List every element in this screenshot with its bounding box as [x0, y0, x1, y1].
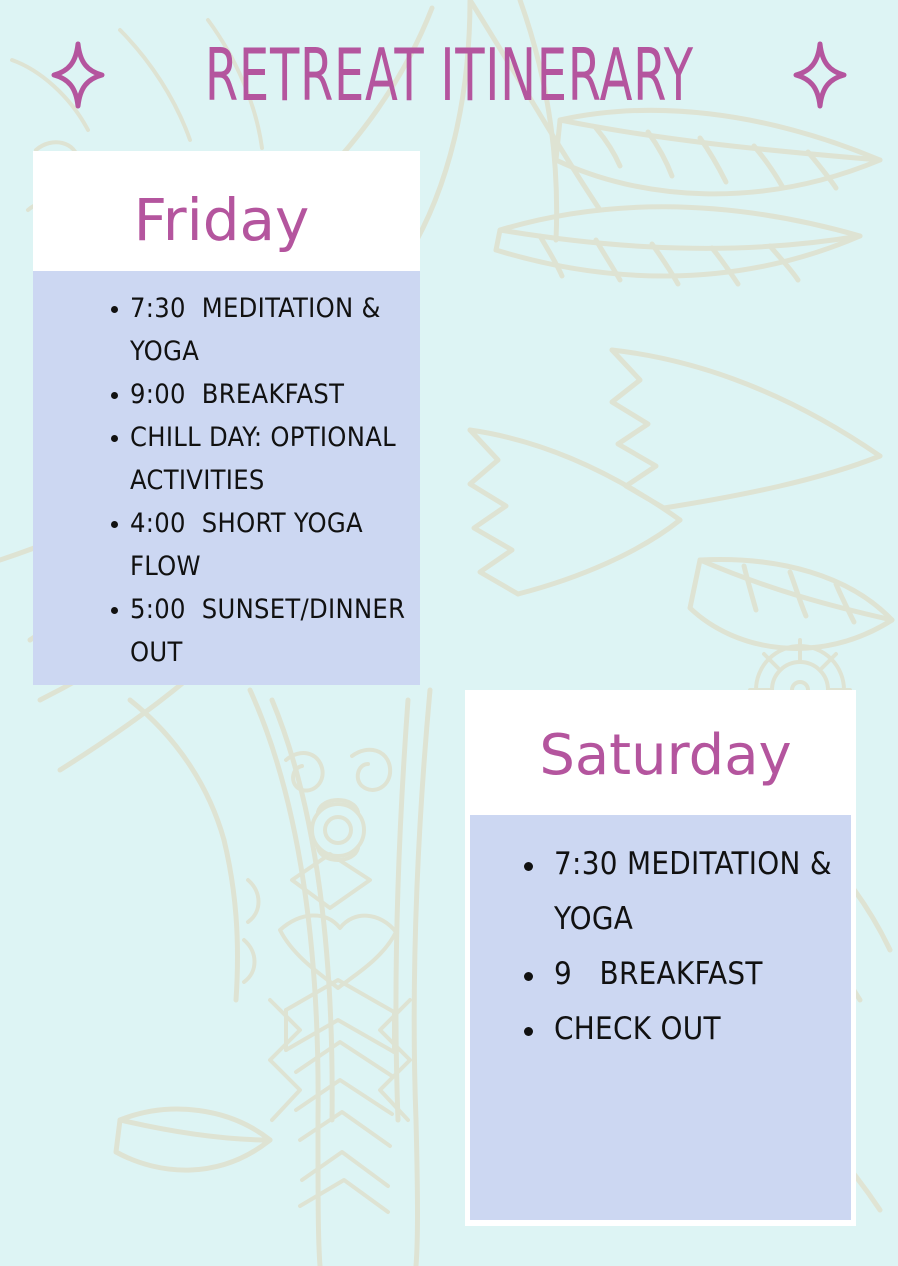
- schedule-list-friday: 7:30 MEDITATION & YOGA 9:00 BREAKFAST CH…: [33, 287, 412, 674]
- list-item: 9:00 BREAKFAST: [111, 373, 412, 416]
- list-item: 9 BREAKFAST: [524, 947, 843, 1002]
- list-item: 5:00 SUNSET/DINNER OUT: [111, 588, 412, 674]
- list-item: 4:00 SHORT YOGA FLOW: [111, 502, 412, 588]
- list-item: CHILL DAY: OPTIONAL ACTIVITIES: [111, 416, 412, 502]
- schedule-panel-friday: 7:30 MEDITATION & YOGA 9:00 BREAKFAST CH…: [33, 271, 420, 685]
- list-item: CHECK OUT: [524, 1002, 843, 1057]
- four-point-star-icon: [793, 41, 847, 109]
- day-heading-saturday: Saturday: [465, 690, 856, 784]
- four-point-star-icon: [51, 41, 105, 109]
- list-item: 7:30 MEDITATION & YOGA: [524, 837, 843, 947]
- list-item: 7:30 MEDITATION & YOGA: [111, 287, 412, 373]
- page-title-text: RETREAT ITINERARY: [205, 39, 694, 111]
- day-card-saturday: Saturday 7:30 MEDITATION & YOGA 9 BREAKF…: [465, 690, 856, 1226]
- schedule-list-saturday: 7:30 MEDITATION & YOGA 9 BREAKFAST CHECK…: [470, 837, 843, 1057]
- day-card-friday: Friday 7:30 MEDITATION & YOGA 9:00 BREAK…: [33, 151, 420, 685]
- page-title: RETREAT ITINERARY: [0, 30, 898, 120]
- day-heading-friday: Friday: [33, 151, 420, 249]
- retreat-itinerary-poster: RETREAT ITINERARY Friday 7:30 MEDITATION…: [0, 0, 898, 1266]
- schedule-panel-saturday: 7:30 MEDITATION & YOGA 9 BREAKFAST CHECK…: [470, 815, 851, 1220]
